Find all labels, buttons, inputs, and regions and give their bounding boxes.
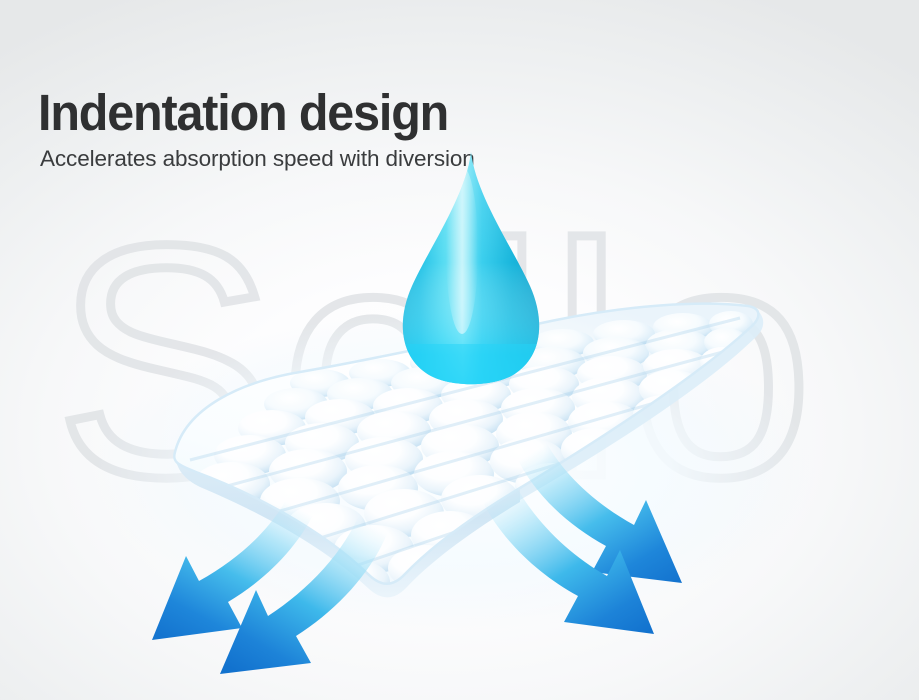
arrow-down-left-2: [220, 508, 392, 674]
pad-edge-thickness: [174, 452, 520, 597]
infographic-canvas: Sello: [0, 0, 919, 700]
droplet-body: [403, 152, 539, 384]
quilt-row-4: [214, 370, 705, 475]
quilt-grooves: [190, 318, 740, 578]
quilt-row-front: [314, 532, 532, 605]
pad-right-edge: [520, 306, 763, 500]
quilt-row-7: [208, 463, 589, 564]
page-subtitle: Accelerates absorption speed with divers…: [40, 145, 475, 172]
quilt-row-3: [238, 347, 744, 446]
page-title: Indentation design: [38, 86, 448, 139]
droplet-base-band: [392, 344, 552, 392]
arrow-down-left-1: [152, 492, 318, 640]
pad-body: [174, 304, 758, 584]
brand-watermark: Sello: [0, 175, 919, 575]
quilt-row-8: [256, 498, 559, 587]
droplet-highlight: [446, 166, 478, 334]
pad-quilt-grid: [183, 311, 753, 605]
watermark-text: Sello: [55, 176, 819, 545]
quilt-row-back: [290, 311, 753, 397]
quilt-row-5: [194, 395, 695, 506]
arrow-down-right-2: [478, 478, 654, 634]
quilt-row-6: [183, 428, 631, 537]
pad-outline: [174, 304, 758, 584]
arrow-down-right-1: [514, 438, 682, 583]
quilt-row-2: [264, 328, 748, 420]
